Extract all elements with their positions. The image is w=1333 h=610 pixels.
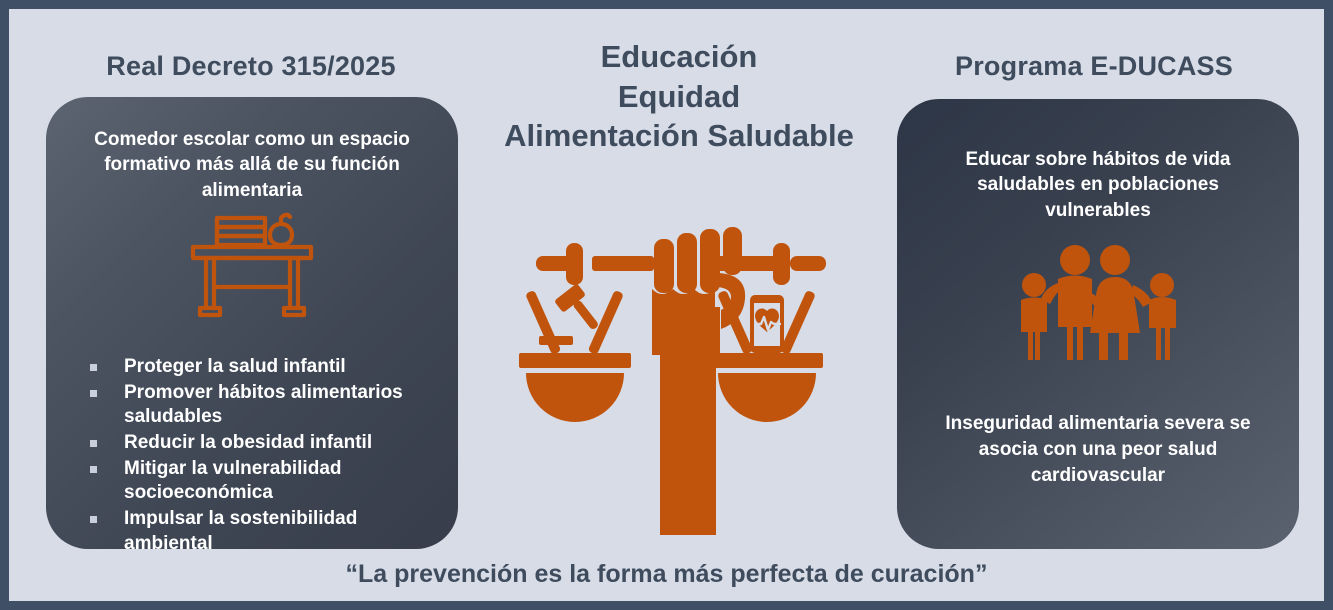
center-title-line-2: Equidad	[469, 77, 889, 117]
right-panel-card: Educar sobre hábitos de vida saludables …	[897, 99, 1299, 549]
infographic-poster: Real Decreto 315/2025 Comedor escolar co…	[0, 0, 1333, 610]
list-item: Impulsar la sostenibilidad ambiental	[52, 507, 448, 549]
left-panel-title: Real Decreto 315/2025	[46, 51, 456, 82]
list-item: Reducir la obesidad infantil	[52, 431, 448, 457]
school-desk-apple-icon	[184, 205, 320, 321]
right-panel-headline: Educar sobre hábitos de vida saludables …	[897, 147, 1299, 223]
list-item: Mitigar la vulnerabilidad socioeconómica	[52, 457, 448, 507]
right-panel-footnote: Inseguridad alimentaria severa se asocia…	[897, 411, 1299, 488]
footer-quote: “La prevención es la forma más perfecta …	[9, 560, 1324, 589]
center-title: Educación Equidad Alimentación Saludable	[469, 37, 889, 156]
family-group-icon	[1007, 237, 1189, 362]
center-title-line-1: Educación	[469, 37, 889, 77]
right-panel-title: Programa E-DUCASS	[889, 51, 1299, 82]
left-panel-headline: Comedor escolar como un espacio formativ…	[46, 127, 458, 203]
list-item: Promover hábitos alimentarios saludables	[52, 381, 448, 431]
left-panel-bullet-list: Proteger la salud infantil Promover hábi…	[46, 355, 458, 549]
center-title-line-3: Alimentación Saludable	[469, 116, 889, 156]
list-item: Proteger la salud infantil	[52, 355, 448, 381]
balance-scales-fist-icon	[514, 227, 844, 539]
left-panel-card: Comedor escolar como un espacio formativ…	[46, 97, 458, 549]
